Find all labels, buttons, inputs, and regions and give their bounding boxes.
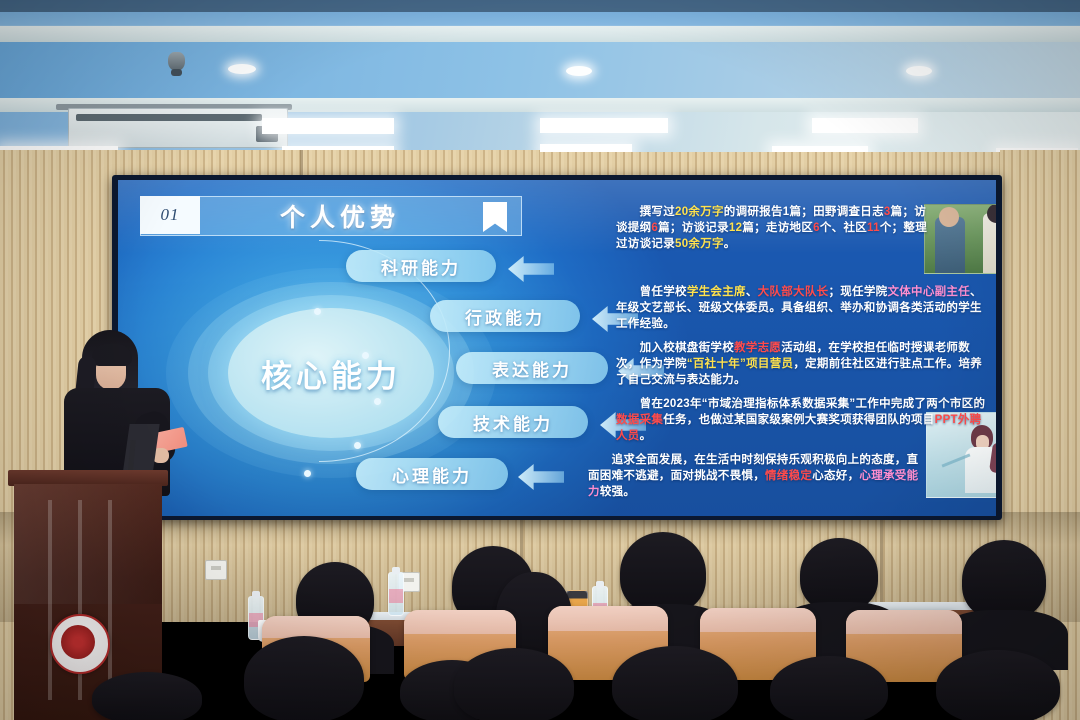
capability-label: 行政能力 (465, 304, 545, 329)
orbit-node-dot (374, 398, 381, 405)
text-segment: “百社十年”项目营员 (687, 358, 794, 370)
ceiling-edge-beam (0, 0, 1080, 12)
text-segment: 3 (884, 206, 891, 218)
audience-head-front (454, 648, 574, 720)
text-segment: 11 (867, 222, 880, 234)
text-segment: 50余万字 (675, 238, 724, 250)
text-segment: 篇；走访地区 (742, 222, 813, 234)
ceiling-panel-light (540, 118, 668, 133)
water-bottle (388, 572, 404, 616)
audience-head (620, 532, 706, 614)
text-segment: 教学志愿 (734, 342, 781, 354)
text-segment: 情绪稳定 (765, 470, 812, 482)
podium-stripe (108, 500, 112, 700)
capability-pill-research[interactable]: 科研能力 (346, 250, 496, 282)
audience-head-front (936, 650, 1060, 720)
text-segment: 学生会主席 (687, 286, 746, 298)
text-segment: 数据采集 (616, 414, 663, 426)
orbit-node-dot (304, 470, 311, 477)
text-segment: 12 (729, 222, 742, 234)
text-segment: 曾在2023年“市域治理指标体系数据采集”工作中完成了两个市区的 (616, 398, 985, 410)
audience-head (800, 538, 878, 612)
university-seal-icon (50, 614, 110, 674)
capability-pill-expression[interactable]: 表达能力 (456, 352, 608, 384)
capability-label: 技术能力 (473, 410, 553, 435)
orbit-node-dot (362, 352, 369, 359)
ceiling-beam-1 (0, 26, 1080, 42)
slide-section-number: 01 (140, 196, 200, 234)
capability-pill-technical[interactable]: 技术能力 (438, 406, 588, 438)
text-block-expression: 加入校棋盘街学校教学志愿活动组，在学校担任临时授课老师数次，作为学院“百社十年”… (616, 340, 992, 388)
conference-hall-scene: 01 个人优势 核心能力 科研能力 行政能力 表达能力 (0, 0, 1080, 720)
bookmark-icon (483, 202, 507, 232)
audience-head-front (770, 656, 888, 720)
text-segment: 个、社区 (820, 222, 867, 234)
wall-outlet (205, 560, 227, 580)
audience-head-front (612, 646, 738, 720)
text-block-technical: 曾在2023年“市域治理指标体系数据采集”工作中完成了两个市区的数据采集任务，也… (616, 396, 992, 444)
text-segment: 文体中心副主任 (887, 286, 970, 298)
text-segment: 篇；访谈记录 (658, 222, 729, 234)
air-conditioner-unit (68, 108, 288, 148)
text-block-psychological: 追求全面发展，在生活中时刻保持乐观积极向上的态度，直面困难不逃避，面对挑战不畏惧… (588, 452, 920, 500)
audience-head (962, 540, 1046, 620)
capability-label: 科研能力 (381, 254, 461, 279)
capability-pill-administration[interactable]: 行政能力 (430, 300, 580, 332)
ceiling-downlight (228, 64, 256, 74)
text-segment: 加入校棋盘街学校 (616, 342, 734, 354)
text-segment: 撰写过 (616, 206, 675, 218)
dome-camera-icon (168, 52, 185, 71)
slide-title-bar: 01 个人优势 (140, 196, 522, 236)
text-segment: 的调研报告1篇；田野调查日志 (724, 206, 884, 218)
text-segment: 较强。 (600, 486, 635, 498)
presenter-bangs (92, 344, 132, 366)
text-segment: 6 (813, 222, 820, 234)
text-segment: 心态好， (812, 470, 859, 482)
text-segment: 20余万字 (675, 206, 724, 218)
audience-head-front (92, 672, 202, 720)
text-block-research: 撰写过20余万字的调研报告1篇；田野调查日志3篇；访谈提纲6篇；访谈记录12篇；… (616, 204, 936, 252)
audience-head-front (244, 636, 364, 720)
capability-label: 表达能力 (492, 356, 572, 381)
text-segment: 曾任学校 (616, 286, 687, 298)
text-block-administration: 曾任学校学生会主席、大队部大队长；现任学院文体中心副主任、年级文艺部长、班级文体… (616, 284, 992, 332)
text-segment: 、 (746, 286, 758, 298)
arrow-left-icon (518, 464, 564, 490)
podium-stripe (48, 500, 52, 700)
slide-title: 个人优势 (215, 197, 465, 235)
text-segment: 任务，也做过某国家级案例大赛奖项获得团队的项目 (663, 414, 934, 426)
capability-label: 心理能力 (392, 462, 472, 487)
orbit-node-dot (354, 442, 361, 449)
ceiling-panel-light (262, 118, 394, 134)
ceiling-downlight (566, 66, 592, 76)
capability-pill-psychological[interactable]: 心理能力 (356, 458, 508, 490)
orbit-node-dot (314, 308, 321, 315)
text-segment: 。 (724, 238, 736, 250)
arrow-left-icon (508, 256, 554, 282)
projection-screen[interactable]: 01 个人优势 核心能力 科研能力 行政能力 表达能力 (118, 180, 996, 516)
text-segment: 。 (640, 430, 652, 442)
text-segment: ；现任学院 (828, 286, 887, 298)
ceiling-panel-light (812, 118, 918, 133)
text-segment: 大队部大队长 (758, 286, 829, 298)
ceiling-downlight (906, 66, 932, 76)
